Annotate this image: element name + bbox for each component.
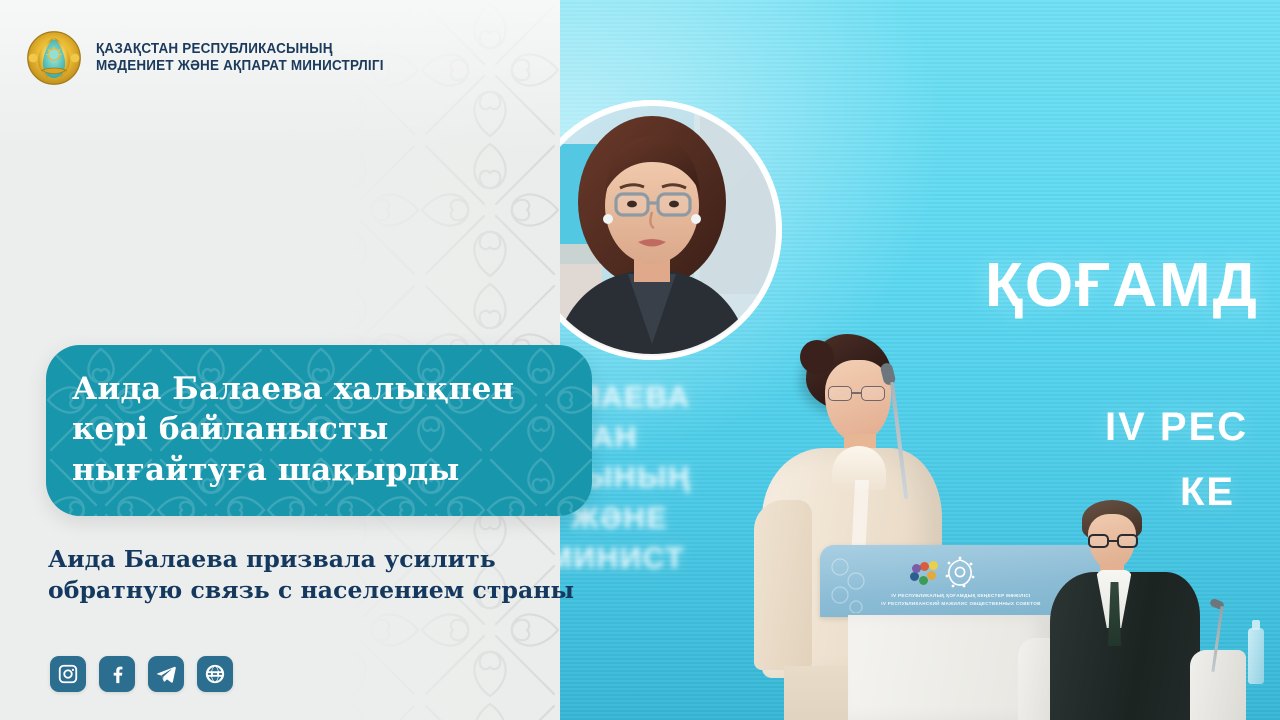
social-link-website[interactable]: [197, 656, 233, 692]
ministry-name: ҚАЗАҚСТАН РЕСПУБЛИКАСЫНЫҢ МӘДЕНИЕТ ЖӘНЕ …: [96, 41, 405, 75]
social-links: [50, 656, 233, 692]
telegram-icon: [155, 663, 177, 685]
podium-colored-dots: [910, 558, 942, 586]
speaker-arm: [754, 500, 812, 670]
globe-icon: [204, 663, 226, 685]
headline-callout: Аида Балаева халықпен кері байланысты ны…: [46, 345, 592, 516]
speaker-hair-bun: [800, 340, 834, 374]
social-link-facebook[interactable]: [99, 656, 135, 692]
headline-line-2: кері байланысты: [72, 409, 574, 449]
podium-emblem-icon: [942, 555, 978, 589]
speaker-glasses: [828, 386, 888, 402]
news-card: А БАЛАЕВА ЗАҚСТАН ЛИКАСЫНЫҢ НИЕТ ЖӘНЕ ЗЕ…: [0, 0, 1280, 720]
headline-line-1: Аида Балаева халықпен: [72, 369, 574, 409]
wall-subtitle: IV РЕС: [1105, 405, 1248, 450]
ministry-line-2: МӘДЕНИЕТ ЖӘНЕ АҚПАРАТ МИНИСТРЛІГІ: [96, 58, 384, 75]
kazakhstan-state-emblem-icon: [26, 30, 82, 86]
social-link-telegram[interactable]: [148, 656, 184, 692]
participant-glasses: [1088, 534, 1138, 549]
seated-participant: [1040, 500, 1280, 720]
ministry-brand: ҚАЗАҚСТАН РЕСПУБЛИКАСЫНЫҢ МӘДЕНИЕТ ЖӘНЕ …: [26, 30, 405, 86]
ministry-line-1: ҚАЗАҚСТАН РЕСПУБЛИКАСЫНЫҢ: [96, 41, 384, 58]
facebook-icon: [106, 663, 128, 685]
wall-title: ҚОҒАМД: [985, 250, 1259, 321]
headline-text: Аида Балаева халықпен кері байланысты ны…: [72, 369, 574, 490]
subtitle-text: Аида Балаева призвала усилить обратную с…: [48, 544, 608, 607]
water-bottle: [1248, 628, 1264, 684]
headline-line-3: нығайтуға шақырды: [72, 450, 574, 490]
subtitle-line-1: Аида Балаева призвала усилить: [48, 544, 608, 575]
subtitle-line-2: обратную связь с населением страны: [48, 575, 608, 606]
instagram-icon: [57, 663, 79, 685]
chair-right-arm: [1190, 650, 1246, 720]
social-link-instagram[interactable]: [50, 656, 86, 692]
